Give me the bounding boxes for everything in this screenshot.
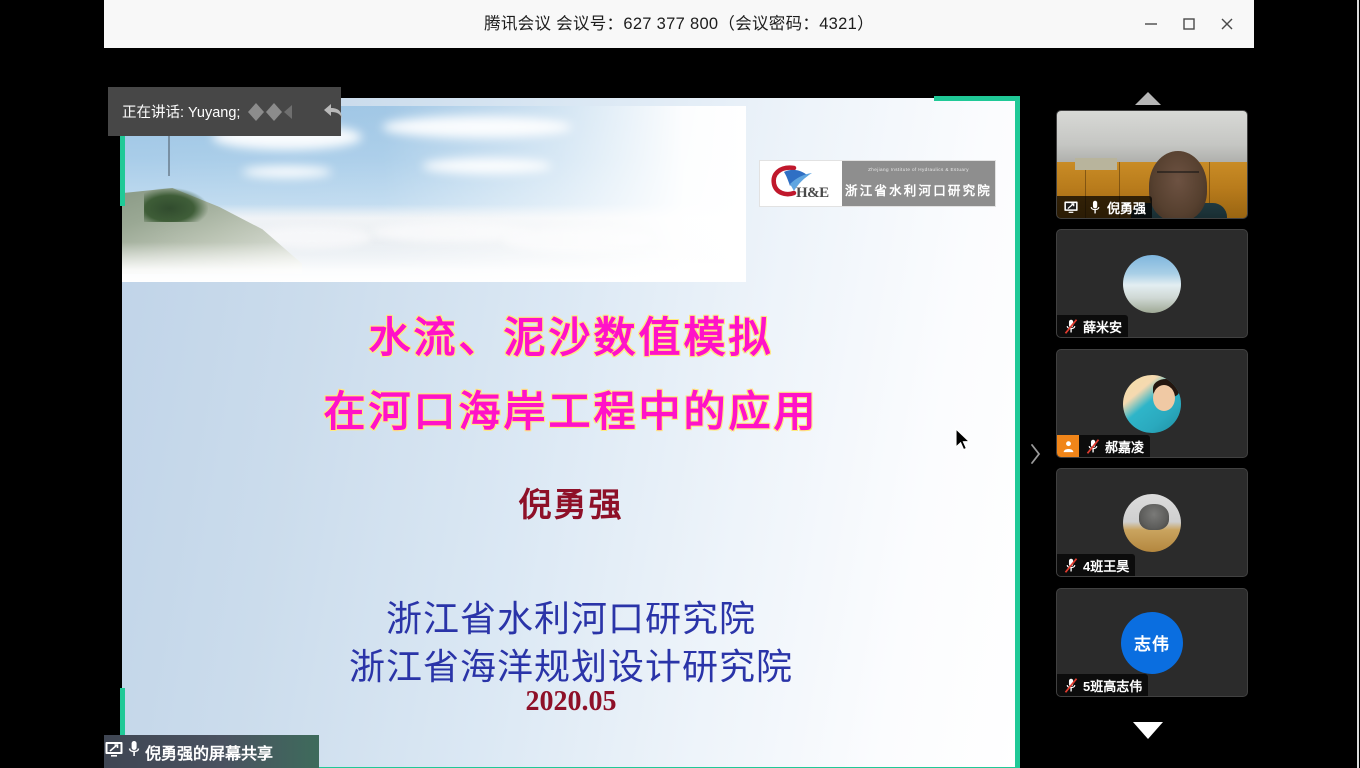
participant-tile[interactable]: 薛米安 <box>1056 229 1248 338</box>
microphone-icon <box>127 739 141 764</box>
reply-arrow-icon[interactable] <box>320 98 346 126</box>
participant-tile[interactable]: 志伟 5班高志伟 <box>1056 588 1248 697</box>
maximize-icon <box>1182 17 1196 31</box>
participant-nametag: 郝嘉凌 <box>1057 435 1150 457</box>
participant-name: 倪勇强 <box>1107 198 1146 217</box>
logo-text-block: Zhejiang Institute of Hydraulics & Estua… <box>842 161 995 206</box>
logo-he-text: H&E <box>796 185 829 202</box>
participant-nametag: 5班高志伟 <box>1057 674 1148 696</box>
arrow-cursor-icon <box>954 428 972 454</box>
minimize-button[interactable] <box>1134 8 1168 40</box>
microphone-muted-icon <box>1061 318 1081 335</box>
mouse-cursor <box>954 428 972 459</box>
presentation-slide: H&E Zhejiang Institute of Hydraulics & E… <box>122 98 1020 768</box>
participant-tile[interactable]: 倪勇强 <box>1056 110 1248 219</box>
chevron-right-icon <box>1028 442 1042 466</box>
speaking-toast-label: 正在讲话: Yuyang; <box>122 101 240 122</box>
participant-nametag: 4班王昊 <box>1057 554 1135 576</box>
logo-mark: H&E <box>760 161 842 206</box>
window-title: 腾讯会议 会议号：627 377 800（会议密码：4321） <box>104 0 1254 48</box>
title-bar: 腾讯会议 会议号：627 377 800（会议密码：4321） <box>104 0 1254 48</box>
logo-chinese-text: 浙江省水利河口研究院 <box>845 180 992 199</box>
microphone-muted-icon <box>1061 677 1081 694</box>
window-right-edge <box>1357 0 1359 768</box>
participant-tile[interactable]: 4班王昊 <box>1056 468 1248 577</box>
sound-wave-icon <box>242 99 298 125</box>
avatar-initials: 志伟 <box>1134 630 1170 655</box>
photo-fade-bottom <box>122 242 746 282</box>
participant-name: 薛米安 <box>1083 317 1122 336</box>
participant-panel: 倪勇强 薛米安 <box>1044 48 1252 768</box>
slide-author: 倪勇强 <box>122 478 1020 526</box>
person-icon <box>1062 440 1075 453</box>
participant-nametag: 薛米安 <box>1057 315 1128 337</box>
microphone-muted-icon <box>1083 438 1103 455</box>
maximize-button[interactable] <box>1172 8 1206 40</box>
share-status-label: 倪勇强的屏幕共享 <box>145 740 273 764</box>
participant-nametag: 倪勇强 <box>1057 196 1152 218</box>
slide-org-line2: 浙江省海洋规划设计研究院 <box>122 638 1020 690</box>
meeting-window: 腾讯会议 会议号：627 377 800（会议密码：4321） <box>104 0 1254 768</box>
close-icon <box>1220 17 1234 31</box>
share-border-top-right <box>934 96 1020 101</box>
slide-title-line1: 水流、泥沙数值模拟 <box>122 304 1020 365</box>
microphone-muted-icon <box>1061 557 1081 574</box>
close-button[interactable] <box>1210 8 1244 40</box>
institute-logo: H&E Zhejiang Institute of Hydraulics & E… <box>759 160 996 207</box>
screen-root: 腾讯会议 会议号：627 377 800（会议密码：4321） <box>0 0 1360 768</box>
video-person-head <box>1149 151 1207 219</box>
avatar <box>1123 494 1181 552</box>
shared-screen-area: H&E Zhejiang Institute of Hydraulics & E… <box>104 48 1044 768</box>
slide-org-line1: 浙江省水利河口研究院 <box>122 590 1020 642</box>
screen-share-icon <box>1061 200 1081 214</box>
screen-share-icon <box>104 740 124 763</box>
video-person-glasses <box>1157 171 1199 182</box>
participant-name: 4班王昊 <box>1083 556 1129 575</box>
slide-date: 2020.05 <box>122 686 1020 718</box>
microphone-icon <box>1085 199 1105 216</box>
host-badge <box>1057 435 1079 457</box>
scroll-down-button[interactable] <box>1131 720 1165 745</box>
participant-name: 5班高志伟 <box>1083 676 1142 695</box>
avatar <box>1123 375 1181 433</box>
avatar: 志伟 <box>1121 612 1183 674</box>
share-status-strip: 倪勇强的屏幕共享 <box>104 735 319 768</box>
slide-title-line2: 在河口海岸工程中的应用 <box>122 378 1020 439</box>
triangle-up-icon <box>1133 90 1163 106</box>
logo-english-text: Zhejiang Institute of Hydraulics & Estua… <box>868 167 969 172</box>
participant-name: 郝嘉凌 <box>1105 437 1144 456</box>
participant-tile[interactable]: 郝嘉凌 <box>1056 349 1248 458</box>
speaking-toast: 正在讲话: Yuyang; <box>108 87 341 136</box>
minimize-icon <box>1144 17 1158 31</box>
scroll-up-button[interactable] <box>1133 90 1163 111</box>
triangle-down-icon <box>1131 720 1165 740</box>
video-box <box>1075 158 1117 170</box>
avatar <box>1123 255 1181 313</box>
